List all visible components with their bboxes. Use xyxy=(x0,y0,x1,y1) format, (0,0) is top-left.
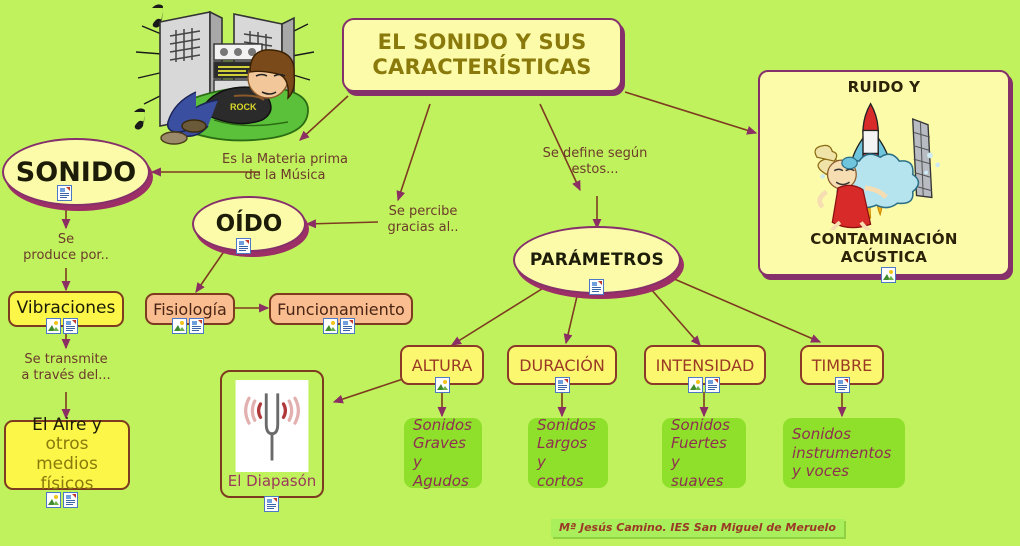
node-sonido-label: SONIDO xyxy=(16,157,136,188)
node-duracion-label: DURACIÓN xyxy=(519,356,605,375)
svg-text:ROCK: ROCK xyxy=(230,102,257,112)
node-diapason-label: El Diapasón xyxy=(228,472,317,490)
badges-parametros[interactable] xyxy=(589,279,604,295)
document-icon[interactable] xyxy=(589,279,604,295)
link-label-se-define: Se define según estos... xyxy=(525,146,665,179)
document-icon[interactable] xyxy=(63,492,78,508)
node-diapason[interactable]: El Diapasón xyxy=(220,370,324,498)
badges-duracion[interactable] xyxy=(555,377,570,393)
image-icon[interactable] xyxy=(435,377,450,393)
badges-el-aire[interactable] xyxy=(46,492,78,508)
badges-altura[interactable] xyxy=(435,377,450,393)
node-fisiologia-label: Fisiología xyxy=(153,300,227,319)
tuning-fork-illustration xyxy=(234,380,310,472)
speakers-listener-illustration: ROCK xyxy=(122,0,322,148)
badges-diapason[interactable] xyxy=(264,496,279,512)
document-icon[interactable] xyxy=(189,318,204,334)
node-funcionamiento-label: Funcionamiento xyxy=(277,300,405,319)
image-icon[interactable] xyxy=(172,318,187,334)
badges-sonido[interactable] xyxy=(57,185,72,201)
image-icon[interactable] xyxy=(323,318,338,334)
badges-timbre[interactable] xyxy=(835,377,850,393)
link-label-materia-prima: Es la Materia prima de la Música xyxy=(205,152,365,185)
document-icon[interactable] xyxy=(63,318,78,334)
image-icon[interactable] xyxy=(46,318,61,334)
document-icon[interactable] xyxy=(236,238,251,254)
node-ruido-contaminacion[interactable]: RUIDO Y xyxy=(758,70,1010,276)
leaf-duracion-label: Sonidos Largos y cortos xyxy=(537,416,599,491)
title-label: EL SONIDO Y SUS CARACTERÍSTICAS xyxy=(358,30,606,80)
node-el-aire-line2: otros medios xyxy=(16,435,118,474)
node-el-aire[interactable]: El Aire y otros medios físicos xyxy=(4,420,130,490)
link-label-se-produce: Se produce por.. xyxy=(14,232,118,265)
badges-funcionamiento[interactable] xyxy=(323,318,355,334)
title-node[interactable]: EL SONIDO Y SUS CARACTERÍSTICAS xyxy=(342,18,622,92)
node-timbre-label: TIMBRE xyxy=(812,356,873,375)
rocket-noise-illustration xyxy=(784,96,984,230)
link-label-se-percibe: Se percibe gracias al.. xyxy=(368,204,478,237)
leaf-duracion[interactable]: Sonidos Largos y cortos xyxy=(528,418,608,488)
leaf-altura[interactable]: Sonidos Graves y Agudos xyxy=(404,418,482,488)
badges-oido[interactable] xyxy=(236,238,251,254)
node-altura-label: ALTURA xyxy=(412,356,473,375)
badges-intensidad[interactable] xyxy=(688,377,720,393)
node-sonido[interactable]: SONIDO xyxy=(2,138,150,206)
node-oido-label: OÍDO xyxy=(216,211,283,237)
document-icon[interactable] xyxy=(264,496,279,512)
author-credit: Mª Jesús Camino. IES San Miguel de Merue… xyxy=(551,519,844,537)
image-icon[interactable] xyxy=(688,377,703,393)
document-icon[interactable] xyxy=(705,377,720,393)
badges-ruido[interactable] xyxy=(881,267,896,283)
document-icon[interactable] xyxy=(835,377,850,393)
document-icon[interactable] xyxy=(555,377,570,393)
node-ruido-line1: RUIDO Y xyxy=(848,78,921,96)
leaf-altura-label: Sonidos Graves y Agudos xyxy=(413,416,473,491)
leaf-timbre-label: Sonidos instrumentos y voces xyxy=(792,425,891,481)
node-intensidad-label: INTENSIDAD xyxy=(656,356,755,375)
leaf-intensidad[interactable]: Sonidos Fuertes y suaves xyxy=(662,418,746,488)
document-icon[interactable] xyxy=(340,318,355,334)
node-vibraciones-label: Vibraciones xyxy=(17,299,116,319)
document-icon[interactable] xyxy=(57,185,72,201)
image-icon[interactable] xyxy=(881,267,896,283)
image-icon[interactable] xyxy=(46,492,61,508)
leaf-intensidad-label: Sonidos Fuertes y suaves xyxy=(671,416,737,491)
concept-map-canvas: ROCK EL SONIDO Y SUS CARACTERÍSTICAS SON… xyxy=(0,0,1020,546)
node-ruido-line2: CONTAMINACIÓN ACÚSTICA xyxy=(768,230,1000,266)
node-el-aire-line1: El Aire y xyxy=(32,416,102,436)
link-label-se-transmite: Se transmite a través del... xyxy=(8,352,124,385)
leaf-timbre[interactable]: Sonidos instrumentos y voces xyxy=(783,418,905,488)
node-parametros-label: PARÁMETROS xyxy=(530,250,664,270)
badges-vibraciones[interactable] xyxy=(46,318,78,334)
badges-fisiologia[interactable] xyxy=(172,318,204,334)
